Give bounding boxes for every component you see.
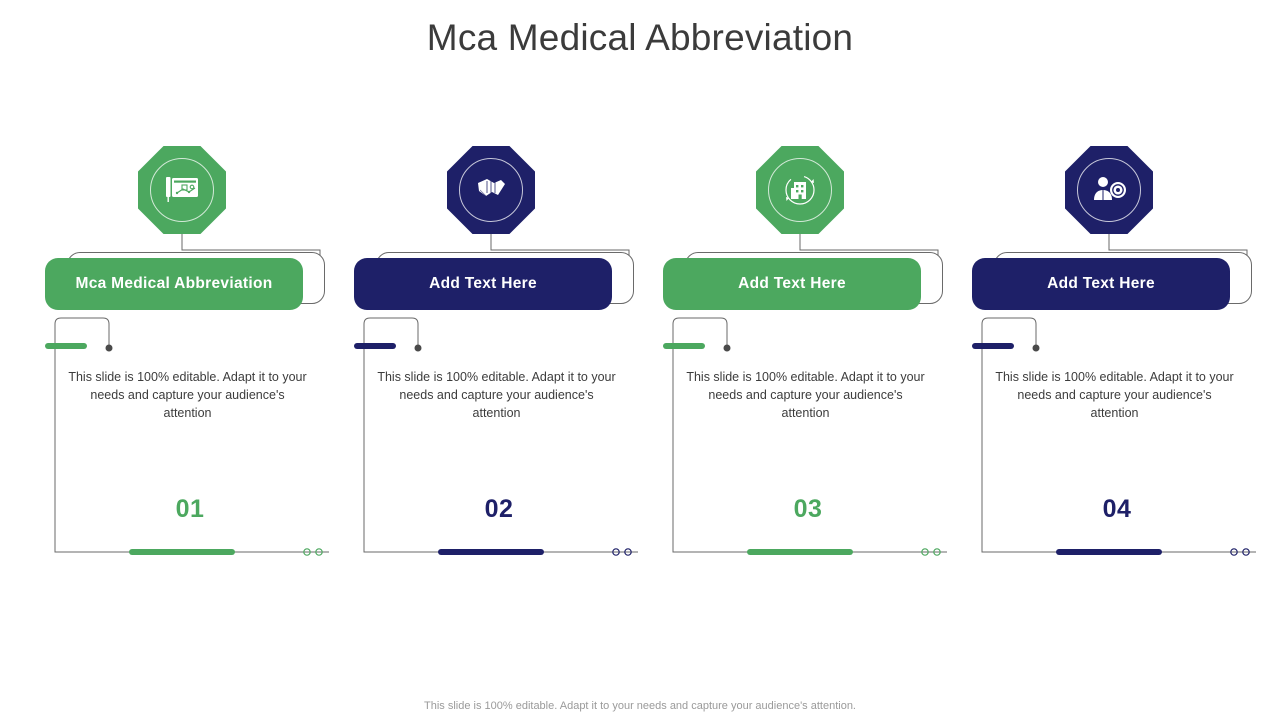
icon-ring-02 <box>459 158 523 222</box>
card-body-03: This slide is 100% editable. Adapt it to… <box>683 368 928 422</box>
cards-container: Mca Medical Abbreviation This slide is 1… <box>0 140 1280 580</box>
card-body-02: This slide is 100% editable. Adapt it to… <box>374 368 619 422</box>
card-label-01: Mca Medical Abbreviation <box>66 275 283 293</box>
icon-ring-01 <box>150 158 214 222</box>
icon-ring-03 <box>768 158 832 222</box>
card-number-02: 02 <box>344 495 654 524</box>
label-pill-01[interactable]: Mca Medical Abbreviation <box>45 258 303 310</box>
card-label-03: Add Text Here <box>728 275 856 293</box>
icon-badge-04[interactable] <box>1065 146 1153 234</box>
label-pill-02[interactable]: Add Text Here <box>354 258 612 310</box>
octagon-shape-04 <box>1065 146 1153 234</box>
body-frame-04 <box>972 316 1256 564</box>
body-frame-03 <box>663 316 947 564</box>
octagon-shape-02 <box>447 146 535 234</box>
office-building-refresh-icon <box>782 173 818 207</box>
body-frame-01 <box>45 316 329 564</box>
slide-footer-note: This slide is 100% editable. Adapt it to… <box>0 700 1280 712</box>
person-target-icon <box>1090 174 1128 206</box>
icon-badge-01[interactable] <box>138 146 226 234</box>
whiteboard-presentation-icon <box>164 175 200 205</box>
icon-ring-04 <box>1077 158 1141 222</box>
icon-badge-03[interactable] <box>756 146 844 234</box>
card-04[interactable]: Add Text Here This slide is 100% editabl… <box>962 140 1272 570</box>
card-03[interactable]: Add Text Here This slide is 100% editabl… <box>653 140 963 570</box>
page-title: Mca Medical Abbreviation <box>0 16 1280 60</box>
card-number-03: 03 <box>653 495 963 524</box>
card-number-04: 04 <box>962 495 1272 524</box>
card-02[interactable]: Add Text Here This slide is 100% editabl… <box>344 140 654 570</box>
label-pill-03[interactable]: Add Text Here <box>663 258 921 310</box>
card-body-01: This slide is 100% editable. Adapt it to… <box>65 368 310 422</box>
card-number-01: 01 <box>35 495 345 524</box>
octagon-shape-01 <box>138 146 226 234</box>
body-frame-02 <box>354 316 638 564</box>
card-01[interactable]: Mca Medical Abbreviation This slide is 1… <box>35 140 345 570</box>
label-pill-04[interactable]: Add Text Here <box>972 258 1230 310</box>
handshake-icon <box>474 175 508 205</box>
icon-badge-02[interactable] <box>447 146 535 234</box>
card-label-02: Add Text Here <box>419 275 547 293</box>
card-body-04: This slide is 100% editable. Adapt it to… <box>992 368 1237 422</box>
slide-canvas: Mca Medical Abbreviation <box>0 0 1280 720</box>
card-label-04: Add Text Here <box>1037 275 1165 293</box>
octagon-shape-03 <box>756 146 844 234</box>
